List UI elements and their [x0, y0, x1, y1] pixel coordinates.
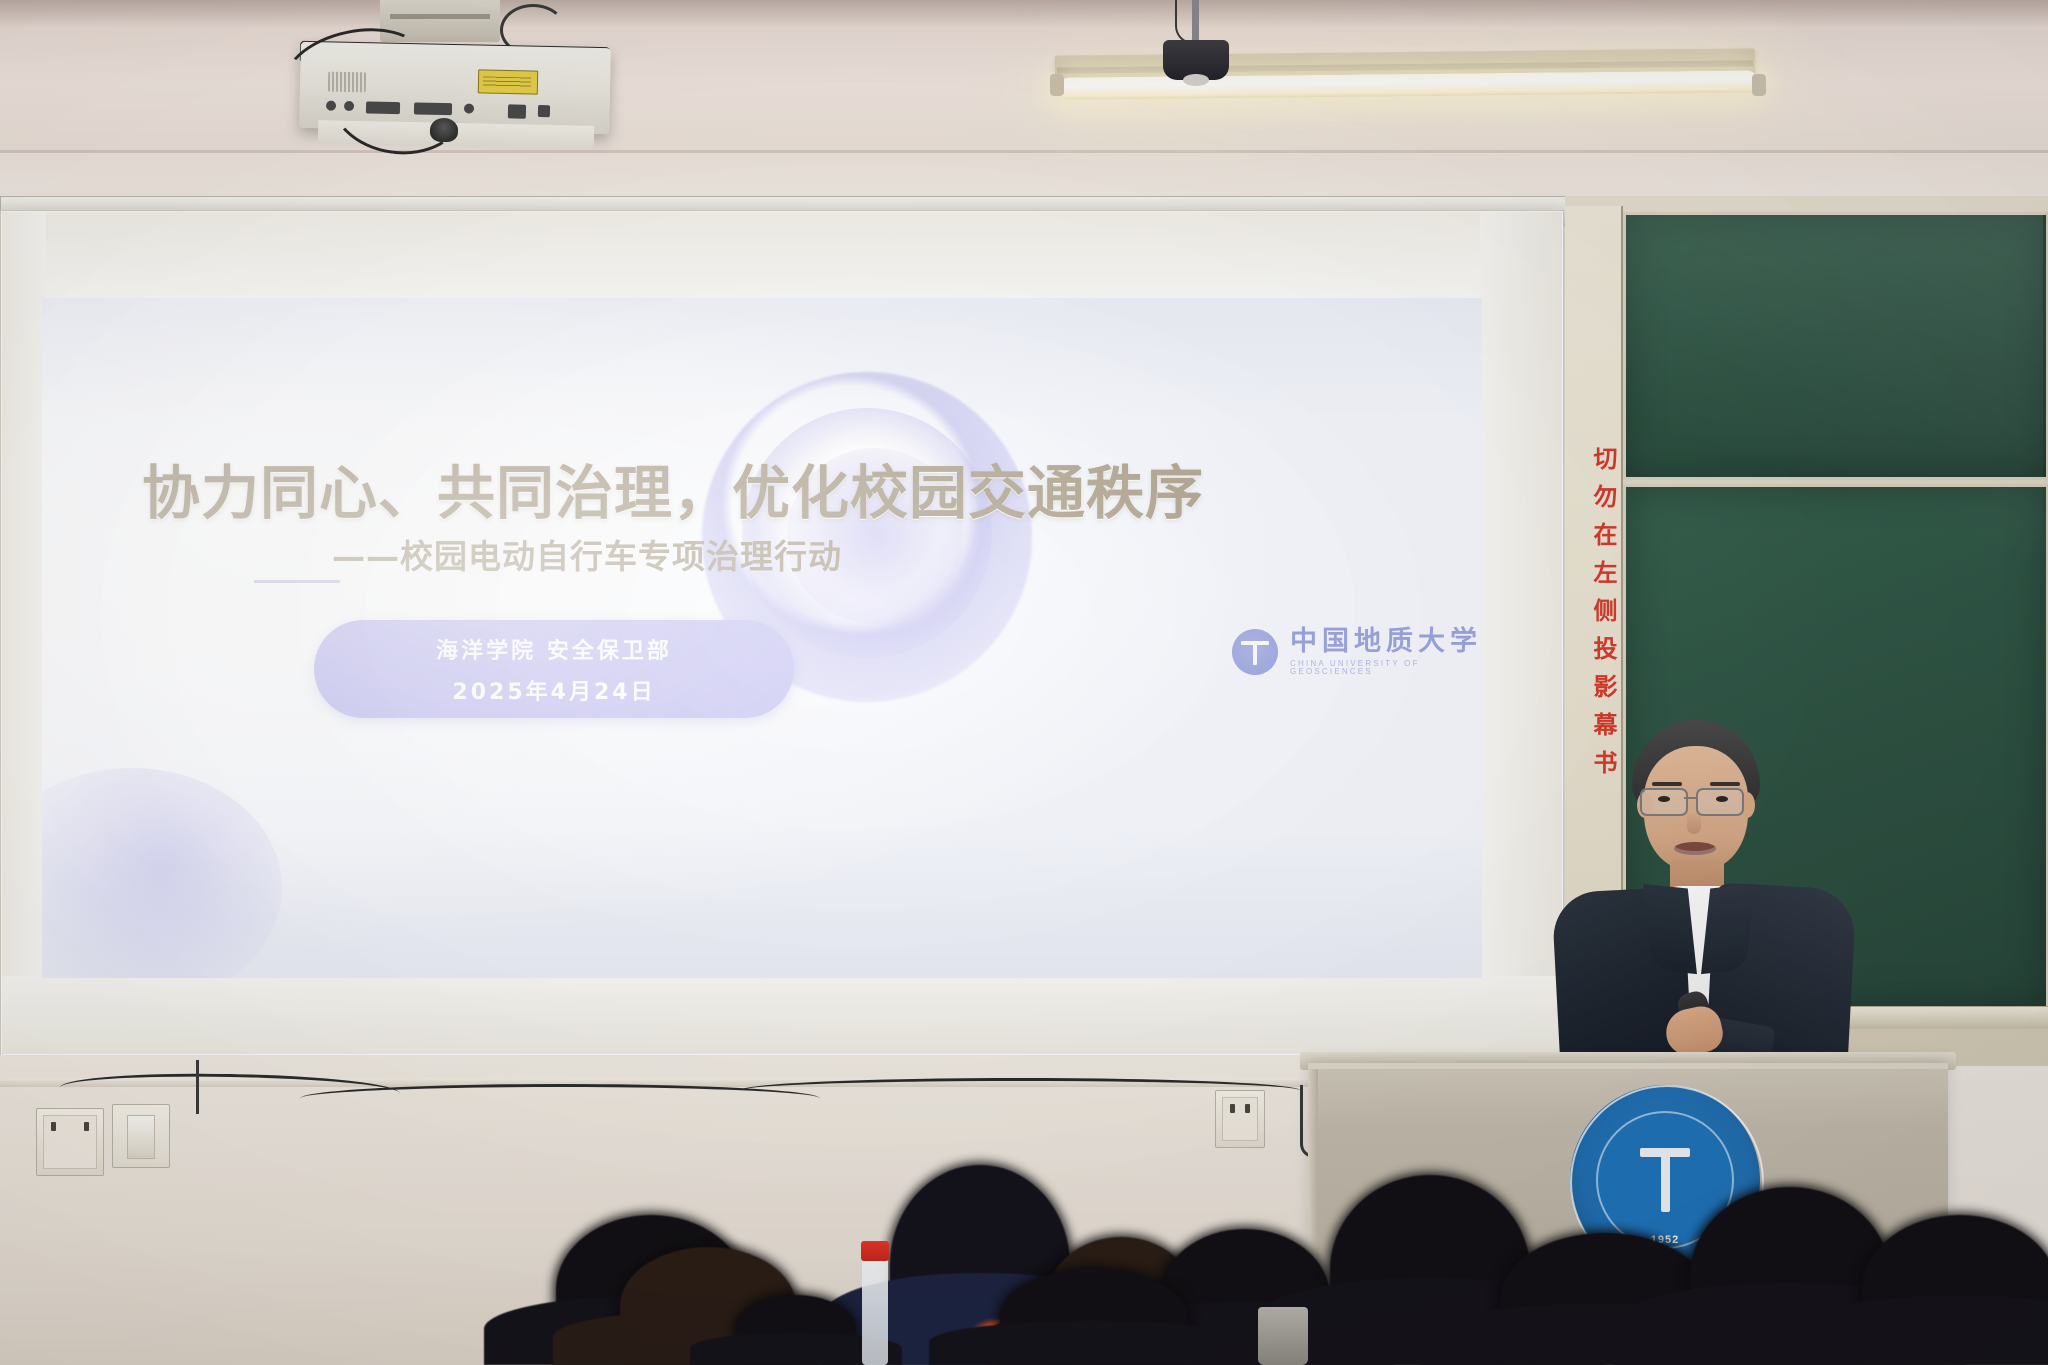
- screen-margin-left: [2, 212, 46, 1054]
- power-outlet[interactable]: [36, 1108, 104, 1176]
- slide-date: 2025年4月24日: [452, 674, 655, 706]
- port-usb: [538, 105, 550, 117]
- presenter-nose: [1687, 812, 1701, 834]
- speaker-stem: [1192, 0, 1199, 44]
- audience-head: [736, 1295, 856, 1365]
- presenter-brow-left: [1652, 782, 1682, 786]
- water-bottle: [862, 1247, 888, 1365]
- light-cap-right: [1752, 74, 1766, 96]
- slide-subtitle: ——校园电动自行车专项治理行动: [332, 530, 1272, 578]
- presenter: [1540, 720, 1860, 1065]
- slide-logo-text: 中国地质大学 CHINA UNIVERSITY OF GEOSCIENCES: [1290, 628, 1482, 676]
- light-switch[interactable]: [112, 1104, 170, 1168]
- presenter-eye-right: [1716, 796, 1728, 802]
- slide-corner-blob: [42, 768, 282, 978]
- podium-hammer-icon: [1640, 1140, 1690, 1212]
- switch-rocker[interactable]: [127, 1115, 155, 1159]
- port-lan: [508, 104, 526, 118]
- geosciences-hammer-icon: [1232, 629, 1278, 675]
- audience-head: [1000, 1269, 1188, 1365]
- light-cap-left: [1050, 74, 1064, 96]
- presenter-brow-right: [1710, 782, 1740, 786]
- glasses-lens-right: [1696, 788, 1744, 816]
- screen-margin-bottom: [2, 976, 1560, 1054]
- outlet-socket-holes-right: [1222, 1097, 1258, 1141]
- ceiling-shadow: [0, 0, 2048, 28]
- paper-cup: [1258, 1307, 1308, 1365]
- presenter-eye-left: [1658, 796, 1670, 802]
- screen-margin-top: [2, 212, 1560, 300]
- bottle-cap: [861, 1241, 889, 1261]
- ceiling-speaker-icon: [1163, 40, 1229, 80]
- glasses-icon: [1640, 788, 1754, 812]
- glasses-lens-left: [1640, 788, 1688, 816]
- wall-seam-line: [0, 150, 2048, 153]
- presenter-mouth: [1674, 842, 1716, 855]
- slide-organization: 海洋学院 安全保卫部: [436, 633, 672, 665]
- slide-university-logo: 中国地质大学 CHINA UNIVERSITY OF GEOSCIENCES: [1232, 628, 1482, 676]
- slide-accent-rule: [254, 580, 340, 583]
- slide-title: 协力同心、共同治理，优化校园交通秩序: [142, 446, 1162, 530]
- projected-slide: 中国地质大学 CHINA UNIVERSITY OF GEOSCIENCES 协…: [42, 298, 1482, 978]
- slide-logo-name-cn: 中国地质大学: [1290, 628, 1482, 655]
- power-outlet-right[interactable]: [1215, 1090, 1265, 1148]
- screen-pull-cord[interactable]: [196, 1060, 199, 1114]
- slide-logo-name-en: CHINA UNIVERSITY OF GEOSCIENCES: [1290, 660, 1482, 676]
- outlet-socket-holes: [43, 1115, 97, 1169]
- slide-info-pill-text: 海洋学院 安全保卫部 2025年4月24日: [314, 620, 794, 718]
- glasses-bridge: [1684, 797, 1696, 799]
- audience-head: [1862, 1215, 2048, 1365]
- classroom-photo-scene: 中国地质大学 CHINA UNIVERSITY OF GEOSCIENCES 协…: [0, 0, 2048, 1365]
- speaker-wire: [1175, 0, 1227, 44]
- projector-warning-label: [478, 69, 538, 94]
- chalkboard-pane-top: [1623, 212, 2048, 480]
